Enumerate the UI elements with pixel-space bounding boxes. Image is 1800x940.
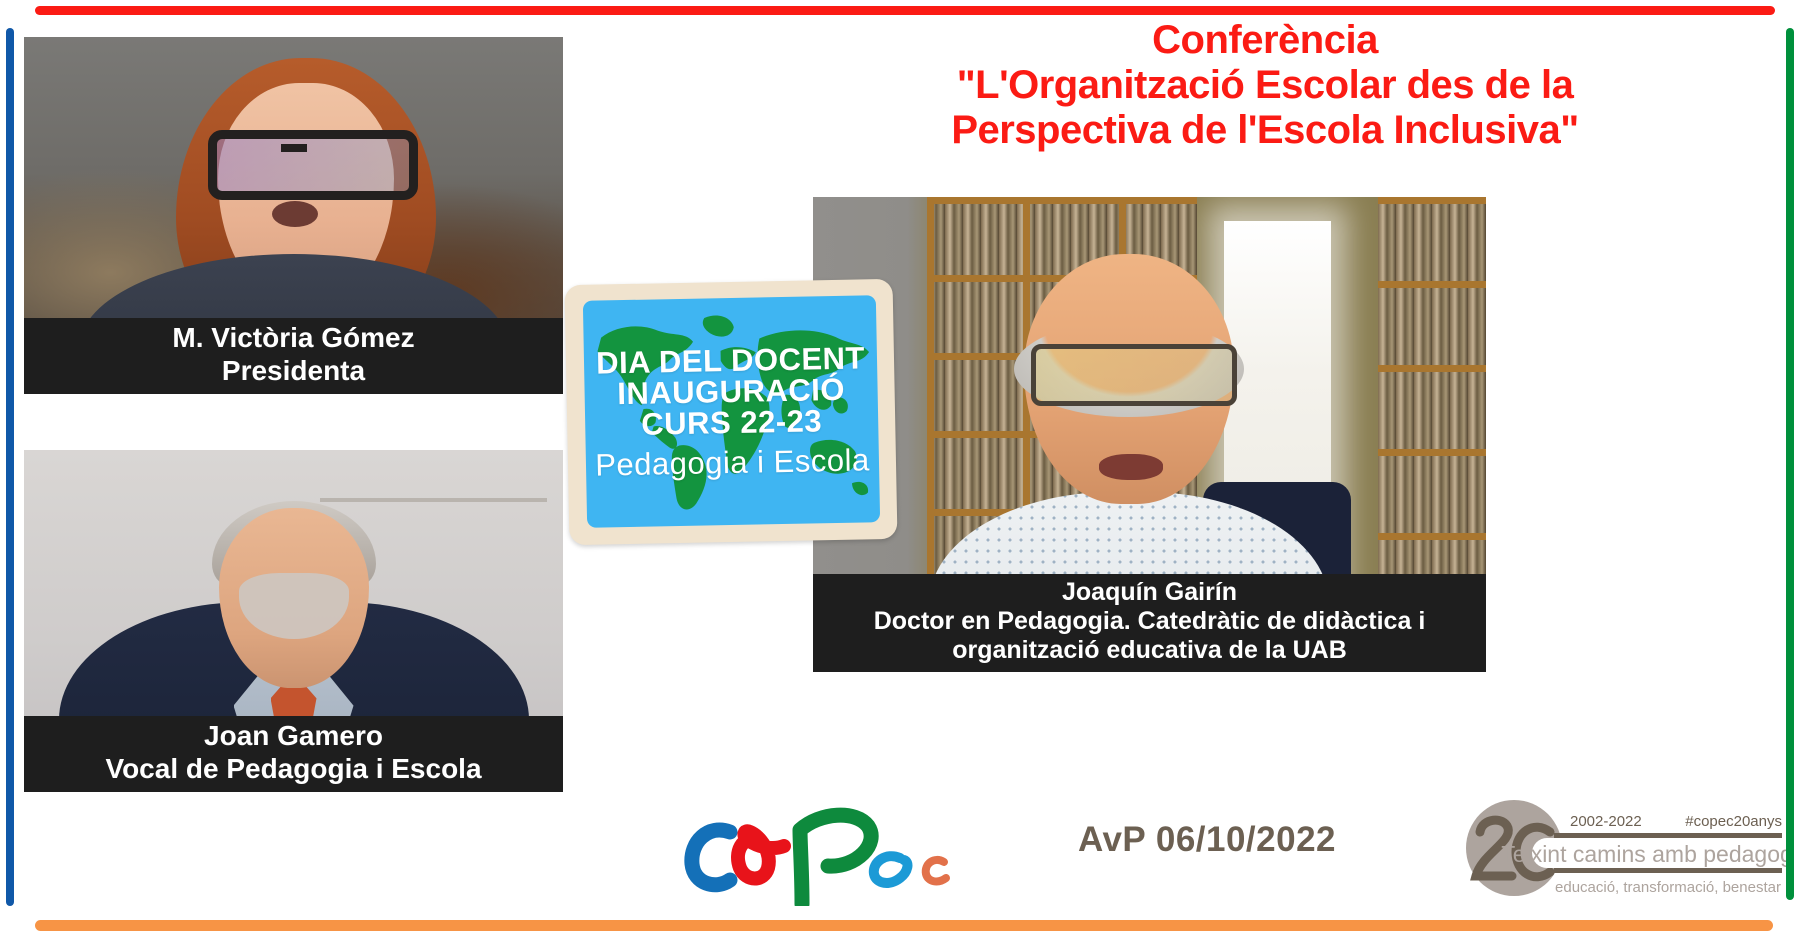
caption-name: Joaquín Gairín (819, 578, 1480, 607)
caption-role: Doctor en Pedagogia. Catedràtic de didàc… (819, 607, 1480, 665)
caption-joan: Joan Gamero Vocal de Pedagogia i Escola (24, 716, 563, 792)
conference-title: Conferència "L'Organització Escolar des … (870, 18, 1660, 152)
copec-logo[interactable] (672, 786, 972, 906)
anniversary-rule-bottom (1554, 868, 1782, 873)
video-tile-joaquin[interactable]: Joaquín Gairín Sallán Joaquín Gairín Doc… (813, 197, 1486, 672)
event-date: AvP 06/10/2022 (1042, 820, 1372, 860)
event-badge-inner: DIA DEL DOCENT INAUGURACIÓ CURS 22-23 Pe… (583, 295, 880, 528)
anniversary-hashtag: #copec20anys (1685, 813, 1782, 830)
decorative-bar-top (35, 6, 1775, 15)
event-badge-text: DIA DEL DOCENT INAUGURACIÓ CURS 22-23 Pe… (583, 295, 880, 528)
decorative-bar-bottom (35, 920, 1773, 931)
decorative-bar-right (1786, 28, 1794, 900)
caption-name: Joan Gamero (30, 720, 557, 752)
anniversary-rule-top (1554, 833, 1782, 838)
caption-role: Vocal de Pedagogia i Escola (30, 753, 557, 785)
caption-role: Presidenta (30, 355, 557, 387)
anniversary-years: 2002-2022 (1570, 813, 1642, 830)
badge-line-3: CURS 22-23 (641, 405, 822, 439)
anniversary-subslogan: educació, transformació, benestar (1555, 879, 1781, 896)
video-tile-joan[interactable]: Joan Gamero Joan Gamero Vocal de Pedagog… (24, 450, 563, 792)
video-tile-victoria[interactable]: M Victòria Gómez Serés M. Victòria Gómez… (24, 37, 563, 394)
caption-name: M. Victòria Gómez (30, 322, 557, 354)
badge-line-4: Pedagogia i Escola (595, 444, 870, 480)
caption-joaquin: Joaquín Gairín Doctor en Pedagogia. Cate… (813, 574, 1486, 672)
anniversary-slogan: Teixint camins amb pedagogia (1501, 841, 1786, 867)
decorative-bar-left (6, 28, 14, 906)
caption-victoria: M. Victòria Gómez Presidenta (24, 318, 563, 394)
anniversary-logo[interactable]: 2002-2022 #copec20anys Teixint camins am… (1446, 792, 1786, 904)
event-badge: DIA DEL DOCENT INAUGURACIÓ CURS 22-23 Pe… (565, 279, 898, 545)
